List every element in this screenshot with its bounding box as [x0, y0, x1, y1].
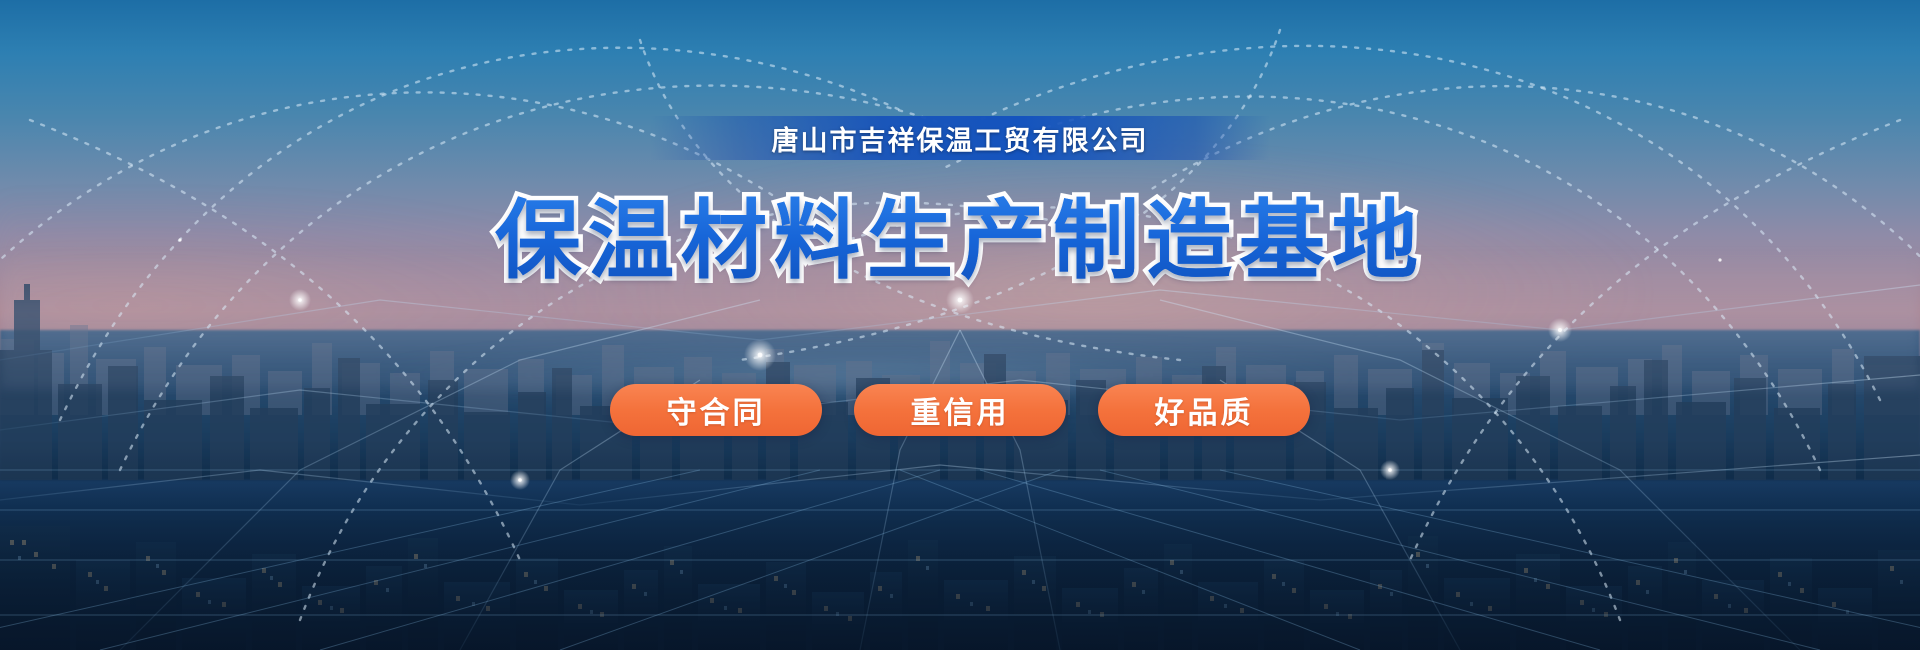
pill-hao-pin-zhi[interactable]: 好品质	[1098, 384, 1310, 436]
pill-label: 守合同	[667, 388, 766, 432]
pill-label: 重信用	[911, 388, 1010, 432]
hero-banner: 唐山市吉祥保温工贸有限公司 保温材料生产制造基地 保温材料生产制造基地 守合同 …	[0, 0, 1920, 650]
pill-zhong-xin-yong[interactable]: 重信用	[854, 384, 1066, 436]
feature-pill-group: 守合同 重信用 好品质	[610, 384, 1310, 436]
headline-outline: 保温材料生产制造基地	[495, 170, 1425, 295]
company-name: 唐山市吉祥保温工贸有限公司	[772, 119, 1149, 158]
skyline-foreground	[0, 430, 1920, 650]
pill-shou-he-tong[interactable]: 守合同	[610, 384, 822, 436]
pill-label: 好品质	[1155, 388, 1254, 432]
company-name-bar[interactable]: 唐山市吉祥保温工贸有限公司	[650, 116, 1270, 160]
